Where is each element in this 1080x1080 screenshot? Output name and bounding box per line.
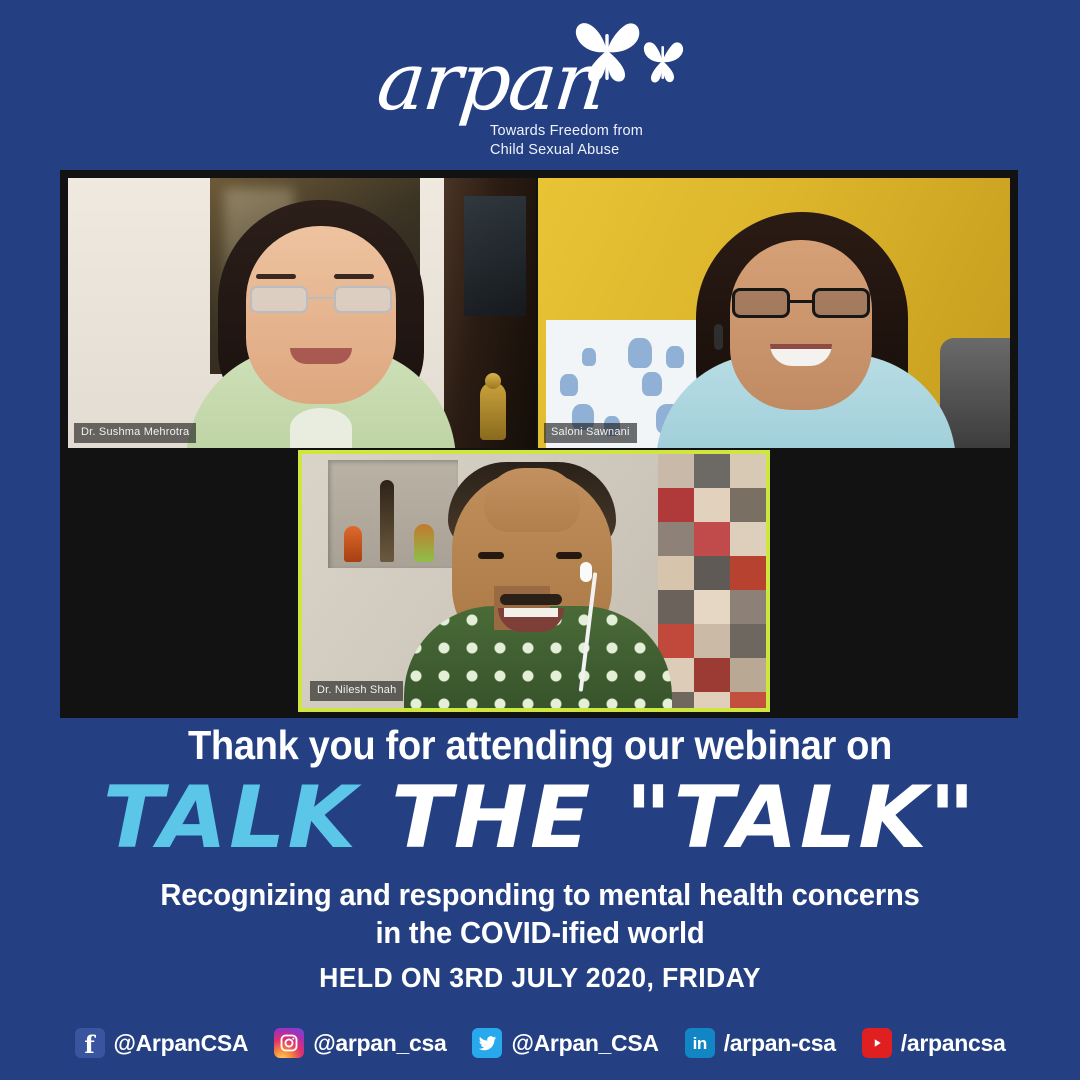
- webinar-subtitle: Recognizing and responding to mental hea…: [32, 876, 1047, 953]
- webinar-subtitle-line-2: in the COVID-ified world: [32, 914, 1047, 952]
- held-on-date: HELD ON 3RD JULY 2020, FRIDAY: [27, 962, 1053, 994]
- social-media-bar: f @ArpanCSA @arpan_csa @Arpan_CSA: [0, 1020, 1080, 1066]
- youtube-handle: /arpancsa: [901, 1030, 1006, 1057]
- video-feed: [68, 178, 536, 448]
- linkedin-handle: /arpan-csa: [724, 1030, 836, 1057]
- earphone-icon: [580, 562, 592, 582]
- arpan-logo: arpan Towards Freedom from Child Sexual …: [0, 18, 1080, 168]
- participant-name-label: Dr. Sushma Mehrotra: [74, 423, 196, 443]
- webinar-title: TALK THE "TALK": [0, 775, 1080, 861]
- logo-wordmark: arpan: [374, 42, 672, 122]
- video-feed: [538, 178, 1010, 448]
- social-link-instagram[interactable]: @arpan_csa: [274, 1028, 446, 1058]
- participant-name-label: Saloni Sawnani: [544, 423, 637, 443]
- participant-name-label: Dr. Nilesh Shah: [310, 681, 403, 701]
- facebook-icon[interactable]: f: [75, 1028, 105, 1058]
- logo-tagline-line-1: Towards Freedom from: [490, 122, 710, 141]
- youtube-icon[interactable]: [862, 1028, 892, 1058]
- instagram-handle: @arpan_csa: [313, 1030, 446, 1057]
- webinar-thank-you-poster: arpan Towards Freedom from Child Sexual …: [0, 0, 1080, 1080]
- logo-tagline: Towards Freedom from Child Sexual Abuse: [490, 122, 710, 159]
- buddha-statue: [480, 382, 506, 440]
- video-tile-saloni-sawnani: Saloni Sawnani: [538, 178, 1010, 448]
- social-link-twitter[interactable]: @Arpan_CSA: [472, 1028, 658, 1058]
- zoom-meeting-screenshot: Dr. Sushma Mehrotra: [60, 170, 1018, 718]
- video-feed: [302, 454, 766, 708]
- webinar-subtitle-line-1: Recognizing and responding to mental hea…: [32, 876, 1047, 914]
- social-link-facebook[interactable]: f @ArpanCSA: [75, 1028, 249, 1058]
- instagram-icon[interactable]: [274, 1028, 304, 1058]
- webinar-title-highlight: TALK: [103, 768, 358, 868]
- twitter-handle: @Arpan_CSA: [511, 1030, 658, 1057]
- video-tile-nilesh-shah: Dr. Nilesh Shah: [298, 450, 770, 712]
- webinar-title-rest: THE "TALK": [391, 768, 977, 868]
- twitter-icon[interactable]: [472, 1028, 502, 1058]
- social-link-linkedin[interactable]: in /arpan-csa: [685, 1028, 836, 1058]
- social-link-youtube[interactable]: /arpancsa: [862, 1028, 1006, 1058]
- eyeglasses-icon: [732, 288, 870, 318]
- video-tile-sushma-mehrotra: Dr. Sushma Mehrotra: [68, 178, 536, 448]
- wall-niche: [328, 460, 458, 568]
- linkedin-icon[interactable]: in: [685, 1028, 715, 1058]
- eyeglasses-icon: [250, 286, 392, 313]
- facebook-handle: @ArpanCSA: [114, 1030, 249, 1057]
- photo-collage-wallpaper: [658, 454, 766, 708]
- thank-you-line: Thank you for attending our webinar on: [38, 722, 1042, 769]
- logo-tagline-line-2: Child Sexual Abuse: [490, 141, 710, 160]
